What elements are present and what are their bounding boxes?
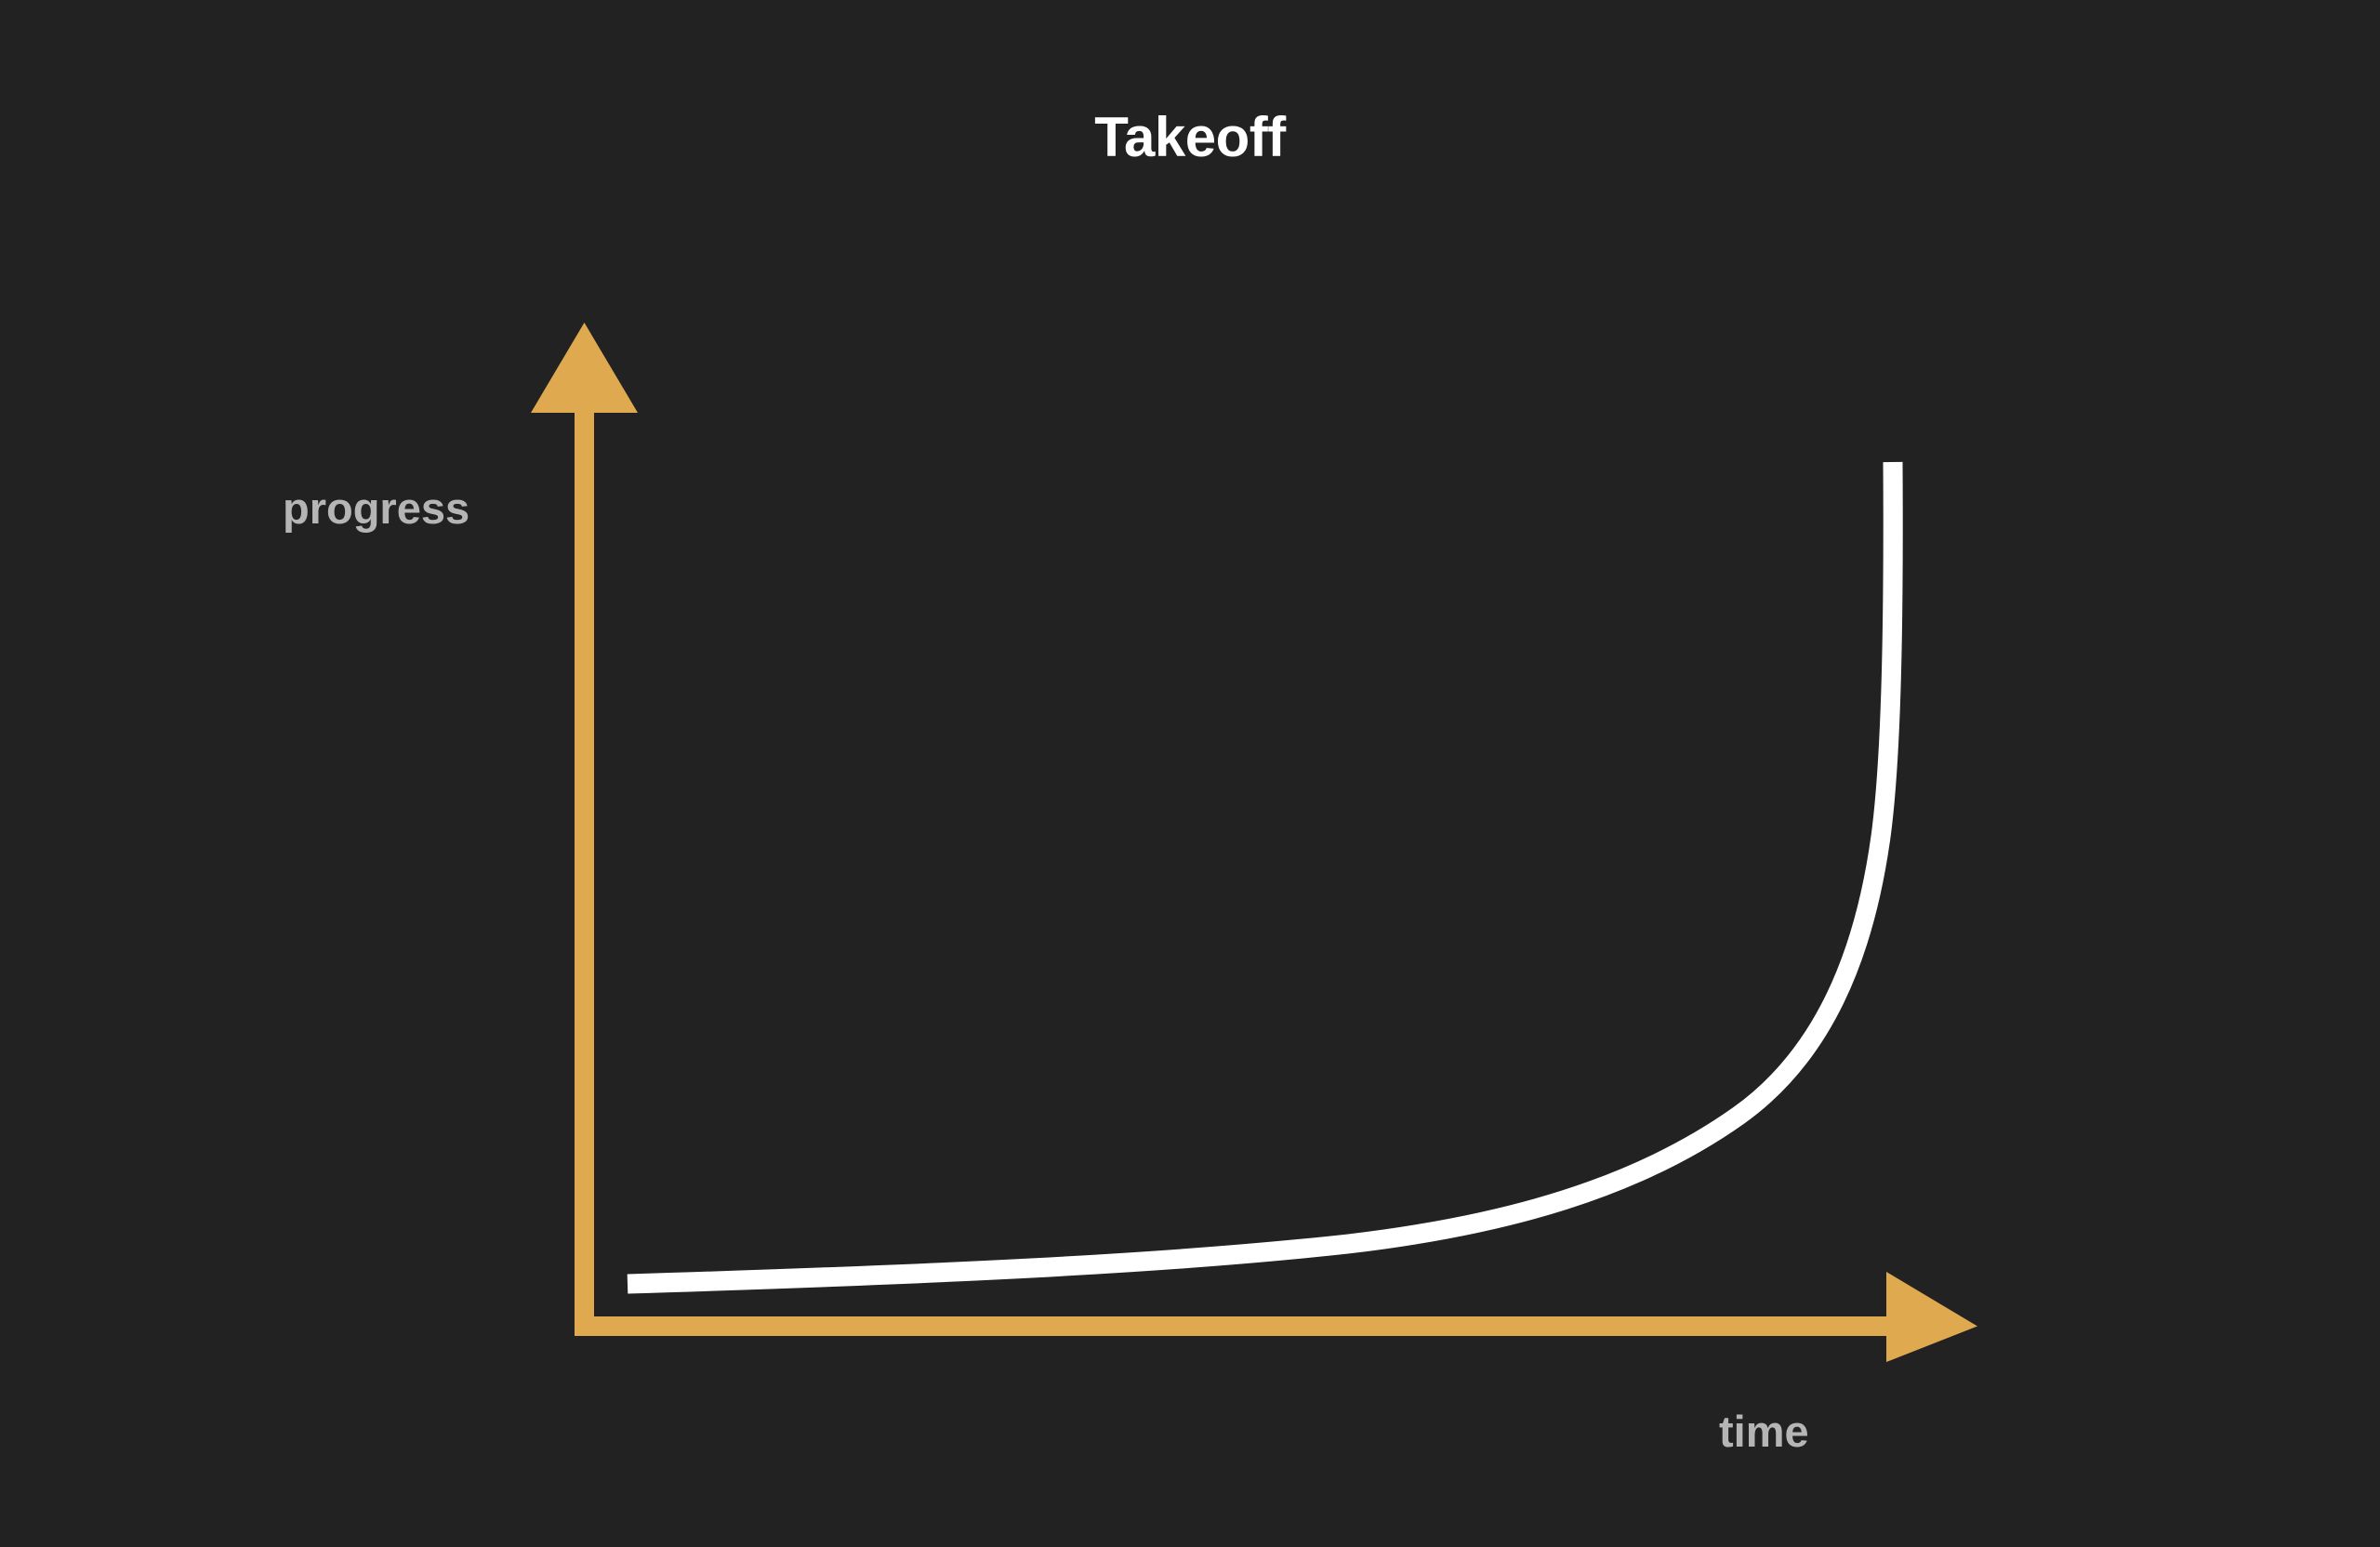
x-axis-line bbox=[575, 1316, 1887, 1336]
takeoff-curve bbox=[628, 462, 1893, 1284]
chart-figure: Takeoff progress time bbox=[0, 0, 2380, 1547]
x-axis-label: time bbox=[1719, 1409, 1809, 1453]
arrow-right-icon bbox=[1886, 1272, 1977, 1362]
takeoff-chart-svg bbox=[0, 0, 2380, 1547]
page-title: Takeoff bbox=[0, 110, 2380, 165]
y-axis-label: progress bbox=[283, 486, 469, 530]
y-axis-line bbox=[575, 409, 594, 1336]
arrow-up-icon bbox=[531, 323, 638, 413]
